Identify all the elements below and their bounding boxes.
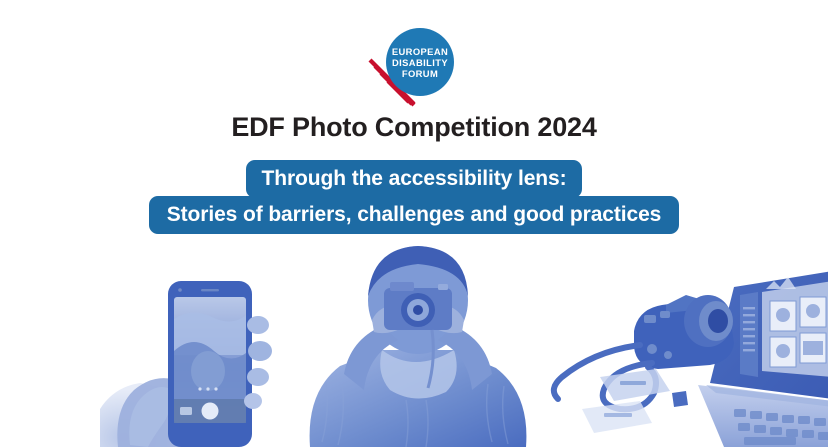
phone-front-camera-icon — [178, 288, 182, 292]
logo-container: EUROPEAN DISABILITY FORUM — [0, 20, 828, 112]
edf-logo: EUROPEAN DISABILITY FORUM — [362, 20, 466, 112]
desk-items — [582, 369, 688, 433]
shutter-button-icon — [202, 403, 219, 420]
screen-ui-dot — [198, 387, 201, 390]
laptop-ui-sidebar — [740, 292, 758, 377]
subtitle-line-1: Through the accessibility lens: — [246, 160, 583, 198]
subtitle-banner: Through the accessibility lens: Stories … — [0, 160, 828, 234]
finger-shape — [247, 316, 269, 334]
logo-line-2: DISABILITY — [392, 57, 448, 68]
edf-logo-icon: EUROPEAN DISABILITY FORUM — [362, 20, 466, 112]
photo-person-taking-photo-with-camera — [286, 242, 548, 447]
person-camera-illustration — [286, 242, 548, 447]
dslr-button-icon — [647, 344, 657, 354]
screen-ui-dot — [214, 387, 217, 390]
screen-thumbnail-icon — [180, 407, 192, 415]
photo-strip — [0, 235, 828, 447]
camera-aperture-icon — [413, 305, 423, 315]
logo-line-1: EUROPEAN — [392, 46, 448, 57]
dslr-dial-icon — [660, 311, 670, 318]
finger-shape — [247, 368, 269, 386]
subtitle-line-2: Stories of barriers, challenges and good… — [149, 196, 680, 234]
subtitle-row-2: Stories of barriers, challenges and good… — [0, 196, 828, 234]
logo-line-3: FORUM — [402, 68, 438, 79]
photo-hand-holding-smartphone-camera — [100, 259, 310, 447]
camera-shutter-button-icon — [438, 284, 448, 290]
dslr-lens-glass-icon — [708, 309, 728, 333]
page-title: EDF Photo Competition 2024 — [0, 110, 828, 144]
document-line — [620, 381, 646, 385]
screen-ui-dot — [206, 387, 209, 390]
poster-canvas: EUROPEAN DISABILITY FORUM EDF Photo Comp… — [0, 0, 828, 447]
camera-laptop-illustration — [548, 259, 828, 447]
hand-smartphone-illustration — [100, 259, 310, 447]
photo-dslr-camera-and-laptop — [548, 259, 828, 447]
finger-shape — [248, 341, 272, 361]
phone-speaker-shape — [201, 289, 219, 291]
dslr-dial-icon — [644, 315, 656, 323]
subtitle-row-1: Through the accessibility lens: — [0, 160, 828, 198]
document-line — [604, 413, 632, 417]
sd-card-icon — [672, 391, 688, 407]
dslr-button-icon — [664, 351, 672, 359]
finger-shape — [244, 393, 262, 409]
dslr-camera — [634, 295, 734, 369]
camera-top-plate-shape — [390, 282, 414, 291]
screen-scene-figure — [191, 351, 225, 391]
